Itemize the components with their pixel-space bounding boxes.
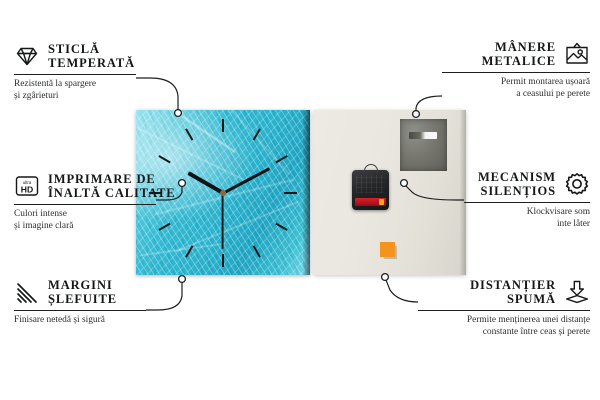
callout-rule bbox=[464, 202, 590, 203]
hour-tick bbox=[222, 254, 224, 267]
callout-title: MECANISM SILENȚIOS bbox=[478, 170, 556, 198]
callout-title-line2: SPUMĂ bbox=[470, 292, 556, 306]
callout-header: MECANISM SILENȚIOS bbox=[390, 170, 590, 198]
hour-tick bbox=[185, 245, 193, 257]
callout-title-line1: IMPRIMARE DE bbox=[48, 172, 176, 186]
callout-title-line1: DISTANȚIER bbox=[470, 278, 556, 292]
callout-title: STICLĂ TEMPERATĂ bbox=[48, 42, 135, 70]
callout-subtitle-line2: și imagine clară bbox=[14, 220, 204, 232]
foam-spacer-pad bbox=[380, 242, 395, 257]
callout-subtitle-line1: Permit montarea ușoară bbox=[390, 76, 590, 88]
second-hand bbox=[222, 193, 224, 249]
callout-title: DISTANȚIER SPUMĂ bbox=[470, 278, 556, 306]
mechanism-hanger-loop bbox=[364, 164, 378, 173]
callout-subtitle: Permite menținerea unei distanțe constan… bbox=[380, 314, 590, 338]
callout-header: ultra HD IMPRIMARE DE ÎNALTĂ CALITATE bbox=[14, 172, 204, 200]
hour-tick bbox=[158, 155, 170, 163]
callout-title: IMPRIMARE DE ÎNALTĂ CALITATE bbox=[48, 172, 176, 200]
callout-subtitle: Rezistentă la spargere și zgârieturi bbox=[14, 78, 204, 102]
callout-header: MARGINI ȘLEFUITE bbox=[14, 278, 204, 306]
callout-subtitle-line1: Permite menținerea unei distanțe bbox=[380, 314, 590, 326]
metal-hanger-detail-inset bbox=[400, 119, 447, 171]
callout-distantier-spuma: DISTANȚIER SPUMĂ Permite menținerea unei… bbox=[380, 278, 590, 338]
callout-header: DISTANȚIER SPUMĂ bbox=[380, 278, 590, 306]
picture-hanger-icon bbox=[564, 41, 590, 67]
hour-tick bbox=[253, 128, 261, 140]
diamond-icon bbox=[14, 43, 40, 69]
callout-rule bbox=[14, 310, 146, 311]
ultra-hd-icon: ultra HD bbox=[14, 173, 40, 199]
callout-title: MARGINI ȘLEFUITE bbox=[48, 278, 117, 306]
callout-margini-slefuite: MARGINI ȘLEFUITE Finisare netedă și sigu… bbox=[14, 278, 204, 326]
hour-tick bbox=[284, 192, 297, 194]
callout-mecanism-silentios: MECANISM SILENȚIOS Klockvisare som inte … bbox=[390, 170, 590, 230]
hour-tick bbox=[275, 155, 287, 163]
callout-header: STICLĂ TEMPERATĂ bbox=[14, 42, 204, 70]
callout-title-line1: STICLĂ bbox=[48, 42, 135, 56]
battery bbox=[355, 198, 386, 206]
foam-spacer-arrow-icon bbox=[564, 279, 590, 305]
callout-subtitle-line1: Rezistentă la spargere bbox=[14, 78, 204, 90]
callout-title-line1: MARGINI bbox=[48, 278, 117, 292]
callout-subtitle-line1: Finisare netedă și sigură bbox=[14, 314, 204, 326]
callout-rule bbox=[442, 72, 590, 73]
callout-rule bbox=[418, 310, 590, 311]
callout-subtitle: Culori intense și imagine clară bbox=[14, 208, 204, 232]
hour-tick bbox=[253, 245, 261, 257]
callout-title: MÂNERE METALICE bbox=[482, 40, 556, 68]
callout-title-line1: MÂNERE bbox=[482, 40, 556, 54]
callout-title-line1: MECANISM bbox=[478, 170, 556, 184]
callout-subtitle-line2: constante între ceas și perete bbox=[380, 326, 590, 338]
callout-subtitle-line2: și zgârieturi bbox=[14, 90, 204, 102]
mechanism-housing-texture bbox=[356, 175, 385, 193]
hour-tick bbox=[185, 128, 193, 140]
callout-rule bbox=[14, 74, 136, 75]
callout-title-line2: SILENȚIOS bbox=[478, 184, 556, 198]
callout-subtitle: Permit montarea ușoară a ceasului pe per… bbox=[390, 76, 590, 100]
callout-subtitle-line2: inte låter bbox=[390, 218, 590, 230]
callout-manere-metalice: MÂNERE METALICE Permit montarea ușoară a… bbox=[390, 40, 590, 100]
minute-hand bbox=[222, 167, 269, 194]
clock-mechanism bbox=[352, 170, 389, 210]
svg-text:HD: HD bbox=[21, 184, 33, 194]
callout-subtitle-line2: a ceasului pe perete bbox=[390, 88, 590, 100]
gear-icon bbox=[564, 171, 590, 197]
callout-subtitle: Finisare netedă și sigură bbox=[14, 314, 204, 326]
callout-subtitle-line1: Culori intense bbox=[14, 208, 204, 220]
hour-tick bbox=[222, 119, 224, 132]
callout-title-line2: METALICE bbox=[482, 54, 556, 68]
clock-center-cap bbox=[220, 190, 226, 196]
callout-subtitle-line1: Klockvisare som bbox=[390, 206, 590, 218]
infographic-canvas: STICLĂ TEMPERATĂ Rezistentă la spargere … bbox=[0, 0, 600, 400]
keyhole-hanger-slot bbox=[409, 132, 437, 139]
callout-title-line2: TEMPERATĂ bbox=[48, 56, 135, 70]
callout-header: MÂNERE METALICE bbox=[390, 40, 590, 68]
hour-tick bbox=[275, 222, 287, 230]
callout-title-line2: ÎNALTĂ CALITATE bbox=[48, 186, 176, 200]
polished-edge-icon bbox=[14, 279, 40, 305]
callout-sticla-temperata: STICLĂ TEMPERATĂ Rezistentă la spargere … bbox=[14, 42, 204, 102]
callout-rule bbox=[14, 204, 156, 205]
callout-subtitle: Klockvisare som inte låter bbox=[390, 206, 590, 230]
callout-imprimare-inalta-calitate: ultra HD IMPRIMARE DE ÎNALTĂ CALITATE Cu… bbox=[14, 172, 204, 232]
callout-title-line2: ȘLEFUITE bbox=[48, 292, 117, 306]
